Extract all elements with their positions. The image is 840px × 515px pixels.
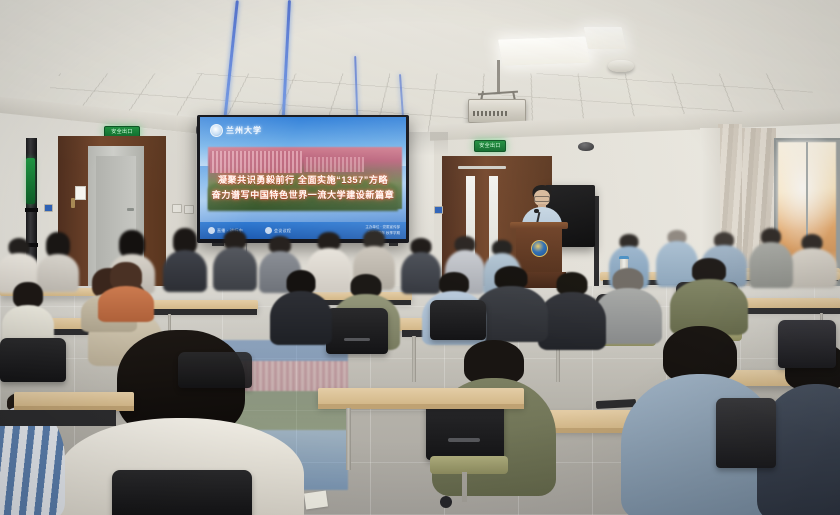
chair[interactable] [716,398,776,468]
chair[interactable] [326,308,388,354]
conference-room-photo: 安全出口 兰州大学 凝聚共识勇毅前行 全面实施“1357”方略 奋力谱写中国特色… [0,0,840,515]
pillar-band [25,208,38,212]
exit-sign-left-text: 安全出口 [111,130,133,135]
audience-member [668,258,750,332]
slide-headline-line-2: 奋力谱写中国特色世界一流大学建设新篇章 [200,188,406,201]
ceiling-projector [468,99,526,123]
slide-building [210,151,302,173]
person-torso [749,242,793,288]
chair-seat [430,456,508,474]
university-logo-text: 兰州大学 [226,125,262,136]
projector-mount-pole [497,60,500,94]
desk-leg [412,336,416,382]
desk-leg [346,408,351,470]
audience-member [162,228,208,290]
presenter-glasses [534,196,550,202]
wall-switch[interactable] [184,205,194,214]
slide-building [304,157,364,172]
door-push-bar[interactable] [458,166,506,169]
smoke-detector-icon [608,60,634,72]
audience-member [212,230,258,290]
chair[interactable] [430,300,486,340]
exit-sign-right: 安全出口 [474,140,506,152]
person-torso [787,248,837,288]
audience-member [96,262,156,318]
chair-post [462,472,467,502]
university-crest-icon [210,124,223,137]
person-torso [213,247,257,291]
desk-underside [0,410,116,426]
list-icon [265,227,272,234]
chair[interactable] [778,320,836,368]
audience-member [748,228,794,286]
person-torso [163,250,207,292]
chair-handle-slot [448,438,480,442]
door-notice-paper [75,186,86,200]
cup-lid [619,256,629,259]
slide-headline-line-1: 凝聚共识勇毅前行 全面实施“1357”方略 [200,173,406,186]
chair[interactable] [0,338,66,382]
chair[interactable] [178,352,252,388]
exit-sign-right-text: 安全出口 [479,144,501,149]
university-emblem [531,240,548,257]
card-reader-switch[interactable] [44,204,53,212]
slide-headline: 凝聚共识勇毅前行 全面实施“1357”方略 奋力谱写中国特色世界一流大学建设新篇… [200,173,406,201]
ceiling-light-panel [584,27,627,49]
gooseneck-microphone [534,209,539,213]
university-logo: 兰州大学 [210,124,262,137]
status-bar-right-line-1: 主办单位 · 党委宣传部 [365,225,400,229]
status-bar-second-label: 会议议程 [274,228,291,234]
audience-member [0,282,56,344]
chair[interactable] [112,470,252,515]
wall-switch[interactable] [172,204,182,213]
ceiling-light-panel [498,36,590,65]
left-door-handle[interactable] [127,208,134,211]
person-orange-top [98,286,154,322]
led-display-screen[interactable]: 兰州大学 凝聚共识勇毅前行 全面实施“1357”方略 奋力谱写中国特色世界一流大… [200,117,406,239]
status-bar-item: 会议议程 [265,227,291,234]
card-reader-switch[interactable] [434,206,443,214]
dome-security-camera [578,142,594,151]
chair-handle-slot [344,338,370,341]
chair-caster [440,496,452,508]
emergency-evacuation-sign [26,158,35,204]
document-sheet [304,491,328,510]
